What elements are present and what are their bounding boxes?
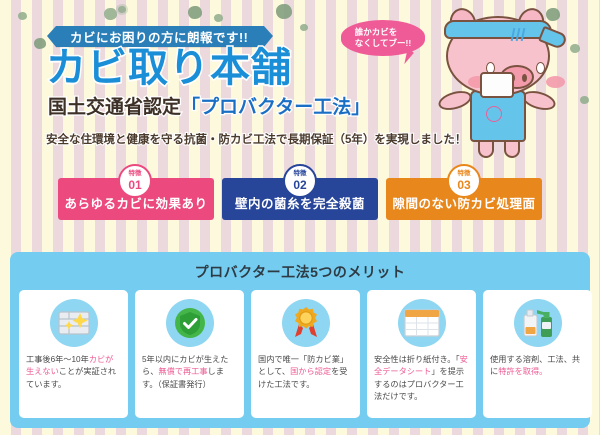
merit-text-part: 工事後6年〜10年 [26,355,89,364]
pig-arm-left-icon [436,88,473,114]
merit-card[interactable]: 5年以内にカビが生えたら、無償で再工事します。（保証書発行） [135,290,244,418]
subtitle-highlight: 「プロバクター工法」 [181,97,370,118]
merit-text-highlight: 無償で再工事 [158,367,207,376]
merit-card-text: 安全性は折り紙付き。「安全データシート」を提示するのはプロバクター工法だけです。 [374,354,469,403]
face-mask-icon [480,72,514,98]
feature-badge-label-01: 特徴 [129,171,142,178]
subtitle: 国土交通省認定「プロバクター工法」 [48,98,370,117]
mold-spot [276,4,292,19]
merit-text-highlight: 国から認定 [290,367,331,376]
speech-bubble-line-2: なくしてブー!! [355,38,411,49]
feature-badge-02: 特徴 02 [283,164,317,198]
pig-eye-right-icon [536,62,545,74]
mold-spot [300,24,308,31]
speech-bubble-text: 誰かカビを なくしてブー!! [355,27,411,50]
feature-badge-01: 特徴 01 [118,164,152,198]
award-medal-icon [282,299,330,347]
announcement-ribbon: カビにお困りの方に朗報です!! [56,26,264,47]
feature-badge-03: 特徴 03 [447,164,481,198]
sweat-drops-icon [512,28,528,42]
landing-page: カビにお困りの方に朗報です!! カビ取り本舗 国土交通省認定「プロバクター工法」… [0,0,600,435]
merits-panel: プロバクター工法5つのメリット 工事後6年〜10 [10,252,590,428]
apron-logo-icon [486,106,502,122]
merit-card[interactable]: 使用する溶剤、工法、共に特許を取得。 [483,290,592,418]
merit-card-text: 5年以内にカビが生えたら、無償で再工事します。（保証書発行） [142,354,237,391]
subtitle-prefix: 国土交通省認定 [48,97,181,118]
merit-card[interactable]: 工事後6年〜10年カビが生えないことが実証されています。 [19,290,128,418]
spray-bottle-icon [514,299,562,347]
speech-bubble-line-1: 誰かカビを [355,27,411,38]
mold-spot [580,96,589,104]
shield-check-icon [166,299,214,347]
data-sheet-table-icon [398,299,446,347]
mold-spot [214,14,223,22]
mold-spot [18,12,27,20]
pig-mascot [430,2,580,164]
merits-title: プロバクター工法5つのメリット [10,252,590,282]
feature-badge-number-01: 01 [128,179,141,191]
mold-spot [188,6,202,19]
feature-badge-label-03: 特徴 [458,171,471,178]
tagline: 安全な住環境と健康を守る抗菌・防カビ工法で長期保証（5年）を実現しました！ [46,131,466,147]
merit-card-text: 使用する溶剤、工法、共に特許を取得。 [490,354,585,379]
mold-spot [104,8,117,20]
pig-headband-icon [444,20,552,39]
merit-card-text: 工事後6年〜10年カビが生えないことが実証されています。 [26,354,121,391]
feature-badge-number-02: 02 [293,179,306,191]
merit-card[interactable]: 安全性は折り紙付き。「安全データシート」を提示するのはプロバクター工法だけです。 [367,290,476,418]
merit-card-list: 工事後6年〜10年カビが生えないことが実証されています。 5年以内にカビが生えた… [19,290,592,418]
brick-wall-sparkle-icon [50,299,98,347]
merit-text-highlight: 特許を取得。 [498,367,547,376]
merit-card[interactable]: 国内で唯一「防カビ業」として、国から認定を受けた工法です。 [251,290,360,418]
pig-nostril-right-icon [522,74,527,82]
feature-badge-number-03: 03 [457,179,470,191]
merit-text-part: 安全性は折り紙付き。「 [374,355,460,364]
ribbon-text: カビにお困りの方に朗報です!! [70,27,248,46]
merit-card-text: 国内で唯一「防カビ業」として、国から認定を受けた工法です。 [258,354,353,391]
feature-badge-label-02: 特徴 [294,171,307,178]
mold-spot [34,38,46,49]
pig-cheek-right-icon [546,76,565,88]
mold-spot [118,6,126,13]
page-title: カビ取り本舗 [46,48,292,88]
